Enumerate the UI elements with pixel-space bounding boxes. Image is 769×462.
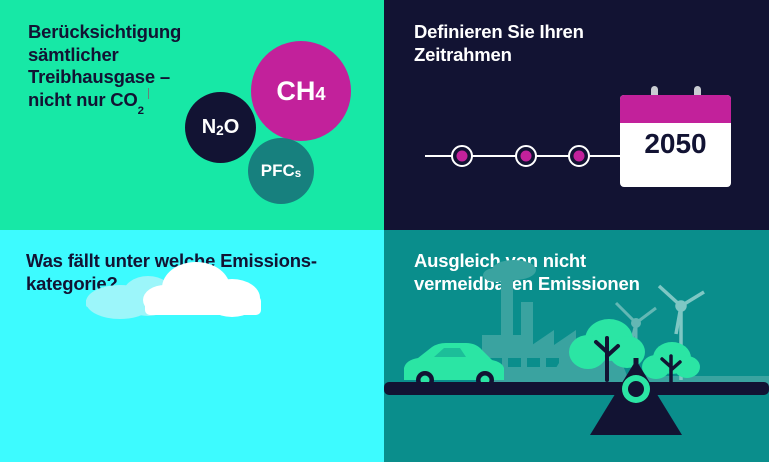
calendar-header bbox=[620, 95, 731, 123]
milestone-dot bbox=[521, 151, 532, 162]
tree-icon-small bbox=[642, 342, 700, 382]
co2-subscript: 2 bbox=[138, 105, 144, 117]
nitrous-oxide-bubble: N2O bbox=[185, 92, 256, 163]
timeframe-heading: Definieren Sie Ihren Zeitrahmen bbox=[414, 21, 584, 66]
calendar-icon: 2050 bbox=[620, 95, 731, 187]
pivot-inner bbox=[628, 381, 644, 397]
balance-beam bbox=[384, 382, 769, 395]
timeline-milestone-2 bbox=[515, 145, 537, 167]
methane-bubble: CH4 bbox=[251, 41, 351, 141]
panel-greenhouse-gases: Berücksichtigung sämtlicher Treibhausgas… bbox=[0, 0, 384, 230]
pfcs-label: PFC bbox=[261, 161, 295, 181]
pfcs-subscript: s bbox=[295, 168, 301, 180]
cloud-main-white bbox=[143, 262, 261, 317]
balance-scene bbox=[384, 230, 769, 462]
milestone-dot bbox=[457, 151, 468, 162]
nitrous-oxide-label: N bbox=[202, 116, 216, 139]
clouds-group bbox=[0, 230, 384, 462]
timeline-milestone-3 bbox=[568, 145, 590, 167]
milestone-dot bbox=[574, 151, 585, 162]
infographic-canvas: Berücksichtigung sämtlicher Treibhausgas… bbox=[0, 0, 769, 462]
methane-subscript: 4 bbox=[315, 83, 325, 105]
nitrous-oxide-label-tail: O bbox=[224, 116, 240, 139]
greenhouse-gases-heading: Berücksichtigung sämtlicher Treibhausgas… bbox=[28, 21, 181, 115]
timeline-milestone-1 bbox=[451, 145, 473, 167]
methane-label: CH bbox=[276, 76, 315, 107]
nitrous-oxide-subscript: 2 bbox=[216, 123, 224, 138]
text-caret-artifact bbox=[148, 88, 149, 99]
pfcs-bubble: PFCs bbox=[248, 138, 314, 204]
panel-scopes: Was fällt unter welche Emissions- katego… bbox=[0, 230, 384, 462]
calendar-year-label: 2050 bbox=[620, 128, 731, 160]
